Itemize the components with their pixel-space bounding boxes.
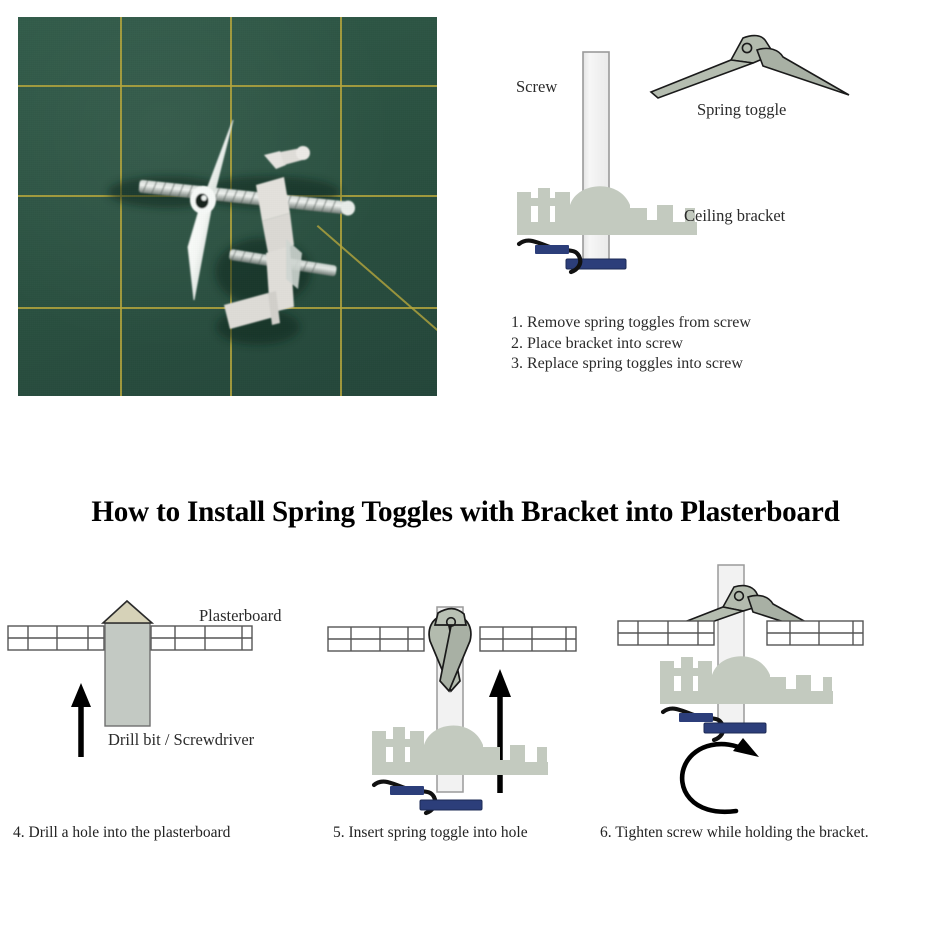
plasterboard-right bbox=[767, 621, 863, 645]
bracket-wire-pad bbox=[679, 713, 713, 722]
screw-base-pad bbox=[704, 723, 766, 733]
ceiling-bracket-shape bbox=[372, 725, 548, 775]
plasterboard-left bbox=[618, 621, 714, 645]
label-ceiling-bracket: Ceiling bracket bbox=[684, 207, 785, 226]
assembly-step-3: 3. Replace spring toggles into screw bbox=[511, 354, 751, 375]
panel-6-tighten-diagram bbox=[605, 565, 931, 830]
caption-step-6: 6. Tighten screw while holding the brack… bbox=[600, 824, 869, 842]
plasterboard-right bbox=[480, 627, 576, 651]
drill-tip bbox=[103, 601, 152, 623]
plasterboard-left bbox=[8, 626, 104, 650]
screw-base-pad bbox=[420, 800, 482, 810]
caption-step-5: 5. Insert spring toggle into hole bbox=[333, 824, 528, 842]
label-plasterboard: Plasterboard bbox=[199, 607, 281, 626]
bracket-wire-pad bbox=[535, 245, 569, 254]
exploded-assembly-diagram bbox=[495, 30, 925, 290]
screw-shaft bbox=[583, 52, 609, 268]
label-drill-tool: Drill bit / Screwdriver bbox=[108, 731, 254, 750]
spring-toggle-open bbox=[651, 36, 849, 98]
assembly-step-2: 2. Place bracket into screw bbox=[511, 334, 751, 355]
caption-step-4: 4. Drill a hole into the plasterboard bbox=[13, 824, 230, 842]
up-arrow-drill bbox=[71, 683, 91, 757]
label-spring-toggle: Spring toggle bbox=[697, 101, 786, 120]
bracket-wire-pad bbox=[390, 786, 424, 795]
ceiling-bracket-shape bbox=[517, 186, 697, 235]
label-screw: Screw bbox=[516, 78, 557, 97]
assembly-step-1: 1. Remove spring toggles from screw bbox=[511, 313, 751, 334]
spring-toggle-parts-photo bbox=[18, 17, 437, 396]
plasterboard-right bbox=[151, 626, 252, 650]
photo-grain-overlay bbox=[18, 17, 437, 396]
drill-shaft bbox=[105, 623, 150, 726]
page-title: How to Install Spring Toggles with Brack… bbox=[14, 495, 917, 529]
ceiling-bracket-shape bbox=[660, 656, 833, 704]
rotate-arrow bbox=[682, 738, 759, 812]
panel-5-insert-diagram bbox=[320, 595, 620, 820]
assembly-steps-list: 1. Remove spring toggles from screw 2. P… bbox=[511, 313, 751, 375]
spring-toggle-folded bbox=[429, 609, 471, 691]
plasterboard-left bbox=[328, 627, 424, 651]
